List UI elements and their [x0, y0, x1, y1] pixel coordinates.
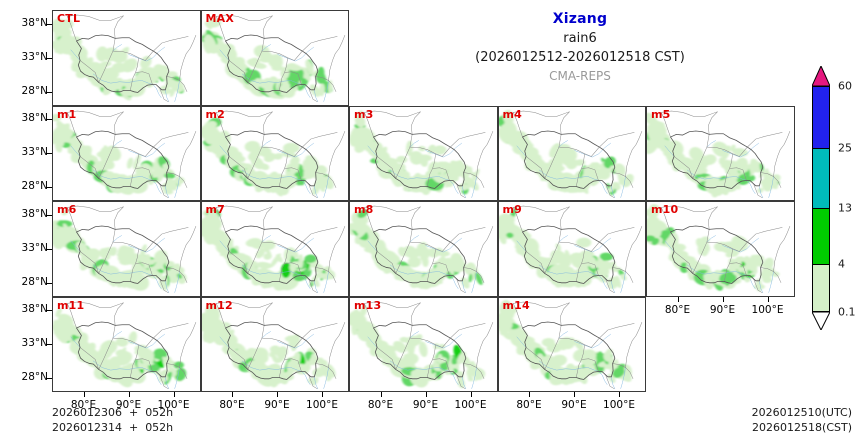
panel-label-m10: m10 — [651, 203, 678, 216]
panel-label-max: MAX — [206, 12, 235, 25]
map-geometry — [202, 202, 349, 296]
panel-label-m5: m5 — [651, 108, 671, 121]
panel-label-m12: m12 — [206, 299, 233, 312]
footer-left: 2026012306 + 052h 2026012314 + 052h — [52, 406, 173, 436]
footer-right: 2026012510(UTC) 2026012518(CST) — [752, 406, 852, 436]
map-geometry — [202, 298, 349, 392]
colorbar-segment-25-60 — [812, 86, 830, 148]
x-axis-tick-label: 80°E — [505, 399, 553, 411]
map-geometry — [350, 202, 497, 296]
x-axis-tick-label: 100°E — [298, 399, 346, 411]
panel-label-m6: m6 — [57, 203, 77, 216]
panel-label-m14: m14 — [503, 299, 530, 312]
x-axis-tick-label: 100°E — [595, 399, 643, 411]
x-axis-tick-label: 80°E — [357, 399, 405, 411]
panel-label-m8: m8 — [354, 203, 374, 216]
map-panel-m10[interactable]: m10 — [646, 201, 795, 297]
y-axis-tick-label: 33°N — [8, 337, 48, 349]
map-panel-m1[interactable]: m1 — [52, 106, 201, 202]
colorbar-under-arrow-icon — [812, 312, 830, 330]
x-axis-tick-mark — [768, 297, 769, 302]
panel-label-m2: m2 — [206, 108, 226, 121]
y-axis-tick-mark — [46, 310, 52, 311]
panel-label-m13: m13 — [354, 299, 381, 312]
map-panel-ctl[interactable]: CTL — [52, 10, 201, 106]
y-axis-tick-label: 28°N — [8, 85, 48, 97]
panel-label-m9: m9 — [503, 203, 523, 216]
map-panel-m9[interactable]: m9 — [498, 201, 647, 297]
colorbar: 60 25 13 4 0.1 — [806, 66, 836, 328]
x-axis-tick-mark — [277, 392, 278, 397]
map-geometry — [202, 107, 349, 201]
footer-left-line2: 2026012314 + 052h — [52, 421, 173, 436]
x-axis-tick-label: 90°E — [550, 399, 598, 411]
page-title: Xizang — [440, 12, 720, 26]
panel-label-ctl: CTL — [57, 12, 80, 25]
x-axis-tick-mark — [723, 297, 724, 302]
map-panel-m8[interactable]: m8 — [349, 201, 498, 297]
x-axis-tick-mark — [619, 392, 620, 397]
colorbar-segment-0.1-4 — [812, 264, 830, 312]
colorbar-over-arrow-icon — [812, 66, 830, 86]
map-geometry — [647, 107, 794, 201]
y-axis-tick-mark — [46, 24, 52, 25]
y-axis-tick-label: 38°N — [8, 112, 48, 124]
map-panel-max[interactable]: MAX — [201, 10, 350, 106]
x-axis-tick-label: 90°E — [253, 399, 301, 411]
x-axis-tick-label: 90°E — [699, 304, 747, 316]
x-axis-tick-label: 90°E — [402, 399, 450, 411]
footer-left-line1: 2026012306 + 052h — [52, 406, 173, 421]
map-geometry — [202, 11, 349, 105]
variable-title: rain6 — [440, 32, 720, 45]
map-panel-m4[interactable]: m4 — [498, 106, 647, 202]
map-panel-m5[interactable]: m5 — [646, 106, 795, 202]
panel-label-m3: m3 — [354, 108, 374, 121]
footer-right-line1: 2026012510(UTC) — [752, 406, 852, 421]
y-axis-tick-mark — [46, 249, 52, 250]
x-axis-tick-mark — [174, 392, 175, 397]
x-axis-tick-mark — [381, 392, 382, 397]
map-geometry — [499, 202, 646, 296]
x-axis-tick-label: 80°E — [208, 399, 256, 411]
y-axis-tick-mark — [46, 92, 52, 93]
colorbar-tick-13: 13 — [838, 202, 852, 215]
x-axis-tick-mark — [322, 392, 323, 397]
map-geometry — [53, 202, 200, 296]
map-geometry — [53, 107, 200, 201]
map-panel-m6[interactable]: m6 — [52, 201, 201, 297]
colorbar-tick-60: 60 — [838, 80, 852, 93]
y-axis-tick-label: 28°N — [8, 371, 48, 383]
y-axis-tick-mark — [46, 119, 52, 120]
y-axis-tick-mark — [46, 187, 52, 188]
x-axis-tick-label: 100°E — [744, 304, 792, 316]
model-title: CMA-REPS — [440, 70, 720, 82]
map-geometry — [350, 298, 497, 392]
y-axis-tick-mark — [46, 344, 52, 345]
y-axis-tick-label: 33°N — [8, 146, 48, 158]
x-axis-tick-mark — [678, 297, 679, 302]
map-geometry — [499, 298, 646, 392]
panel-label-m1: m1 — [57, 108, 77, 121]
panel-label-m4: m4 — [503, 108, 523, 121]
chart-title-block: Xizang rain6 (2026012512-2026012518 CST)… — [440, 12, 720, 82]
map-geometry — [350, 107, 497, 201]
map-geometry — [53, 11, 200, 105]
map-geometry — [53, 298, 200, 392]
x-axis-tick-mark — [232, 392, 233, 397]
map-panel-m13[interactable]: m13 — [349, 297, 498, 393]
panel-label-m11: m11 — [57, 299, 84, 312]
footer-right-line2: 2026012518(CST) — [752, 421, 852, 436]
x-axis-tick-mark — [426, 392, 427, 397]
x-axis-tick-mark — [529, 392, 530, 397]
y-axis-tick-mark — [46, 283, 52, 284]
map-panel-m7[interactable]: m7 — [201, 201, 350, 297]
y-axis-tick-label: 28°N — [8, 276, 48, 288]
x-axis-tick-mark — [574, 392, 575, 397]
x-axis-tick-mark — [84, 392, 85, 397]
map-panel-m3[interactable]: m3 — [349, 106, 498, 202]
x-axis-tick-mark — [471, 392, 472, 397]
colorbar-segment-4-13 — [812, 208, 830, 264]
y-axis-tick-label: 28°N — [8, 180, 48, 192]
y-axis-tick-label: 33°N — [8, 51, 48, 63]
map-panel-m11[interactable]: m11 — [52, 297, 201, 393]
map-panel-m12[interactable]: m12 — [201, 297, 350, 393]
y-axis-tick-label: 38°N — [8, 17, 48, 29]
x-axis-tick-label: 100°E — [447, 399, 495, 411]
x-axis-tick-mark — [129, 392, 130, 397]
map-geometry — [647, 202, 794, 296]
colorbar-tick-0.1: 0.1 — [838, 306, 856, 319]
colorbar-tick-25: 25 — [838, 142, 852, 155]
y-axis-tick-label: 33°N — [8, 242, 48, 254]
map-panel-m2[interactable]: m2 — [201, 106, 350, 202]
y-axis-tick-mark — [46, 215, 52, 216]
y-axis-tick-label: 38°N — [8, 208, 48, 220]
panel-label-m7: m7 — [206, 203, 226, 216]
x-axis-tick-label: 80°E — [654, 304, 702, 316]
colorbar-tick-4: 4 — [838, 258, 845, 271]
y-axis-tick-mark — [46, 378, 52, 379]
y-axis-tick-mark — [46, 153, 52, 154]
y-axis-tick-mark — [46, 58, 52, 59]
y-axis-tick-label: 38°N — [8, 303, 48, 315]
map-geometry — [499, 107, 646, 201]
period-title: (2026012512-2026012518 CST) — [440, 51, 720, 64]
colorbar-segment-13-25 — [812, 148, 830, 208]
map-panel-m14[interactable]: m14 — [498, 297, 647, 393]
